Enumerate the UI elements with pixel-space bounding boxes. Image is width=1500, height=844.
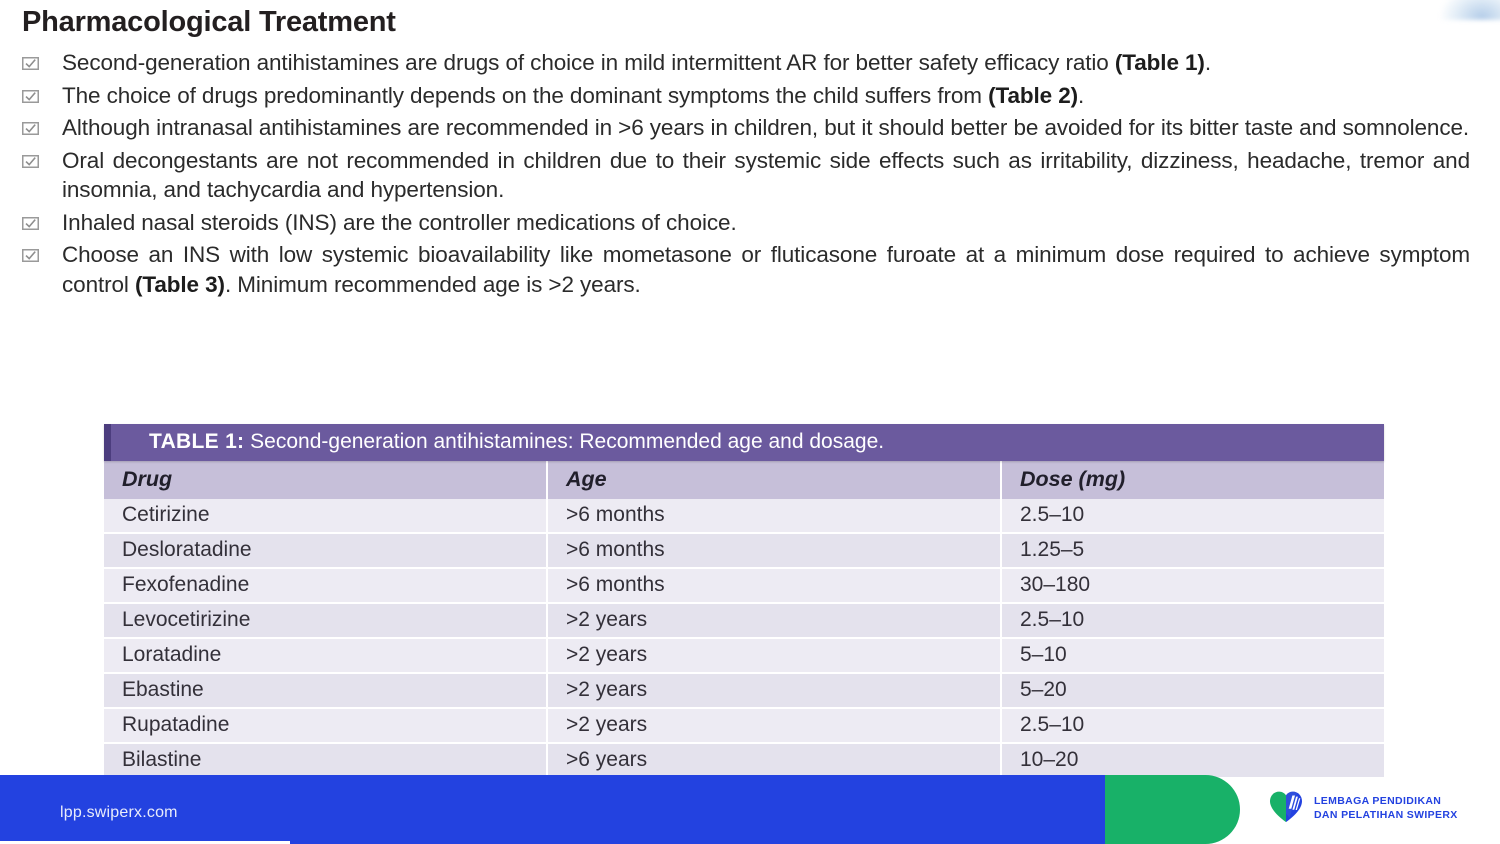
cell-age: >2 years bbox=[547, 638, 1001, 673]
cell-age: >6 months bbox=[547, 568, 1001, 603]
table-row: Cetirizine >6 months 2.5–10 bbox=[104, 499, 1384, 533]
logo-text: LEMBAGA PENDIDIKAN DAN PELATIHAN SWIPERX bbox=[1314, 795, 1458, 822]
table-caption: TABLE 1: Second-generation antihistamine… bbox=[104, 424, 1384, 461]
cell-dose: 2.5–10 bbox=[1001, 603, 1384, 638]
footer-url[interactable]: lpp.swiperx.com bbox=[60, 804, 178, 822]
bullet-item: Second-generation antihistamines are dru… bbox=[22, 48, 1470, 78]
table-row: Ebastine >2 years 5–20 bbox=[104, 673, 1384, 708]
cell-dose: 5–10 bbox=[1001, 638, 1384, 673]
cell-drug: Fexofenadine bbox=[104, 568, 547, 603]
cell-dose: 2.5–10 bbox=[1001, 499, 1384, 533]
cell-drug: Levocetirizine bbox=[104, 603, 547, 638]
swiperx-logo: LEMBAGA PENDIDIKAN DAN PELATIHAN SWIPERX bbox=[1266, 786, 1458, 831]
checkbox-checked-icon bbox=[22, 81, 62, 105]
cell-dose: 5–20 bbox=[1001, 673, 1384, 708]
bullet-text: The choice of drugs predominantly depend… bbox=[62, 81, 1470, 111]
cell-age: >6 months bbox=[547, 499, 1001, 533]
checkbox-checked-icon bbox=[22, 113, 62, 137]
cell-drug: Cetirizine bbox=[104, 499, 547, 533]
bullet-item: The choice of drugs predominantly depend… bbox=[22, 81, 1470, 111]
footer-blue-bar bbox=[0, 775, 1200, 844]
cell-drug: Desloratadine bbox=[104, 533, 547, 568]
table-row: Bilastine >6 years 10–20 bbox=[104, 743, 1384, 778]
cell-age: >6 months bbox=[547, 533, 1001, 568]
slide-content: Pharmacological Treatment Second-generat… bbox=[0, 0, 1500, 844]
footer-green-accent bbox=[1105, 775, 1240, 844]
table-row: Loratadine >2 years 5–10 bbox=[104, 638, 1384, 673]
caption-text: TABLE 1: Second-generation antihistamine… bbox=[104, 430, 1384, 454]
bullet-text: Although intranasal antihistamines are r… bbox=[62, 113, 1470, 143]
cell-dose: 10–20 bbox=[1001, 743, 1384, 778]
cell-age: >2 years bbox=[547, 673, 1001, 708]
checkbox-checked-icon bbox=[22, 208, 62, 232]
bullet-text: Second-generation antihistamines are dru… bbox=[62, 48, 1470, 78]
cell-dose: 1.25–5 bbox=[1001, 533, 1384, 568]
table-row: Rupatadine >2 years 2.5–10 bbox=[104, 708, 1384, 743]
cell-age: >2 years bbox=[547, 708, 1001, 743]
bullet-text: Inhaled nasal steroids (INS) are the con… bbox=[62, 208, 1470, 238]
bullet-text: Choose an INS with low systemic bioavail… bbox=[62, 240, 1470, 299]
cell-age: >6 years bbox=[547, 743, 1001, 778]
column-header-dose: Dose (mg) bbox=[1001, 461, 1384, 499]
checkbox-checked-icon bbox=[22, 146, 62, 170]
checkbox-checked-icon bbox=[22, 48, 62, 72]
bullet-item: Choose an INS with low systemic bioavail… bbox=[22, 240, 1470, 299]
cell-age: >2 years bbox=[547, 603, 1001, 638]
bullet-item: Oral decongestants are not recommended i… bbox=[22, 146, 1470, 205]
bullet-item: Although intranasal antihistamines are r… bbox=[22, 113, 1470, 143]
cell-drug: Bilastine bbox=[104, 743, 547, 778]
bullet-text: Oral decongestants are not recommended i… bbox=[62, 146, 1470, 205]
cell-drug: Loratadine bbox=[104, 638, 547, 673]
page-title: Pharmacological Treatment bbox=[22, 6, 396, 39]
table-row: Fexofenadine >6 months 30–180 bbox=[104, 568, 1384, 603]
table-header-row: Drug Age Dose (mg) bbox=[104, 461, 1384, 499]
checkbox-checked-icon bbox=[22, 240, 62, 264]
bullet-item: Inhaled nasal steroids (INS) are the con… bbox=[22, 208, 1470, 238]
logo-line-2: DAN PELATIHAN SWIPERX bbox=[1314, 809, 1458, 821]
table-1: TABLE 1: Second-generation antihistamine… bbox=[104, 424, 1384, 779]
table-row: Levocetirizine >2 years 2.5–10 bbox=[104, 603, 1384, 638]
column-header-age: Age bbox=[547, 461, 1001, 499]
table-row: Desloratadine >6 months 1.25–5 bbox=[104, 533, 1384, 568]
cell-drug: Rupatadine bbox=[104, 708, 547, 743]
cell-drug: Ebastine bbox=[104, 673, 547, 708]
swiperx-heart-logo-icon bbox=[1266, 786, 1306, 831]
logo-line-1: LEMBAGA PENDIDIKAN bbox=[1314, 795, 1441, 807]
cell-dose: 2.5–10 bbox=[1001, 708, 1384, 743]
bullet-list: Second-generation antihistamines are dru… bbox=[22, 48, 1470, 302]
caption-accent-stripe bbox=[104, 424, 111, 461]
column-header-drug: Drug bbox=[104, 461, 547, 499]
antihistamines-table: Drug Age Dose (mg) Cetirizine >6 months … bbox=[104, 461, 1384, 779]
cell-dose: 30–180 bbox=[1001, 568, 1384, 603]
